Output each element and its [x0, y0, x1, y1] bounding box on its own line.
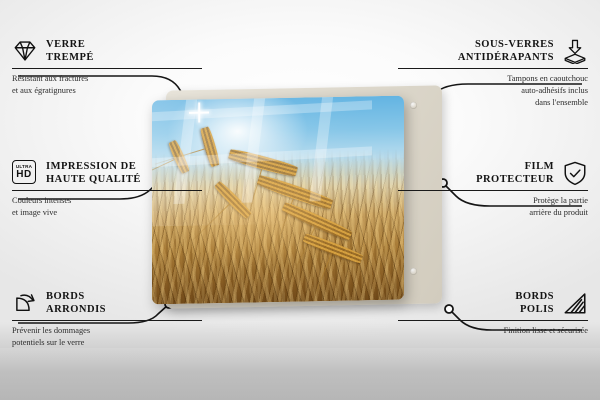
ultra-hd-icon: ultra HD [12, 160, 38, 186]
feature-description: Tampons en caoutchouc auto-adhésifs incl… [398, 73, 588, 110]
feature-heading: VERRE TREMPÉ [12, 38, 202, 65]
feature-bords-polis: BORDS POLIS Finition lisse et sécurisée [398, 290, 588, 337]
divider [12, 320, 202, 321]
feature-description: Couleurs intenses et image vive [12, 195, 202, 219]
feature-impression-haute-qualite: ultra HD IMPRESSION DE HAUTE QUALITÉ Cou… [12, 160, 202, 219]
feature-description: Protège la partie arrière du produit [398, 195, 588, 219]
rounded-corner-icon [12, 290, 38, 316]
feature-description: Prévenir les dommages potentiels sur le … [12, 325, 202, 349]
feature-title: BORDS ARRONDIS [46, 290, 106, 317]
feature-description: Finition lisse et sécurisée [398, 325, 588, 337]
divider [12, 68, 202, 69]
feature-title: VERRE TREMPÉ [46, 38, 94, 65]
divider [12, 190, 202, 191]
feature-heading: ultra HD IMPRESSION DE HAUTE QUALITÉ [12, 160, 202, 187]
diamond-icon [12, 38, 38, 64]
shield-check-icon [562, 160, 588, 186]
feature-heading: FILM PROTECTEUR [398, 160, 588, 187]
feature-heading: BORDS POLIS [398, 290, 588, 317]
feature-title: FILM PROTECTEUR [476, 160, 554, 187]
feature-heading: SOUS-VERRES ANTIDÉRAPANTS [398, 38, 588, 65]
table-surface [0, 348, 600, 400]
non-slip-pad-icon [562, 38, 588, 64]
feature-title: BORDS POLIS [515, 290, 554, 317]
feature-verre-trempe: VERRE TREMPÉ Résistant aux fractures et … [12, 38, 202, 97]
feature-heading: BORDS ARRONDIS [12, 290, 202, 317]
feature-description: Résistant aux fractures et aux égratignu… [12, 73, 202, 97]
polished-edge-icon [562, 290, 588, 316]
mounting-screw [410, 268, 417, 275]
feature-title: SOUS-VERRES ANTIDÉRAPANTS [458, 38, 554, 65]
feature-film-protecteur: FILM PROTECTEUR Protège la partie arrièr… [398, 160, 588, 219]
feature-sous-verres-antiderapants: SOUS-VERRES ANTIDÉRAPANTS Tampons en cao… [398, 38, 588, 109]
divider [398, 190, 588, 191]
divider [398, 320, 588, 321]
feature-bords-arrondis: BORDS ARRONDIS Prévenir les dommages pot… [12, 290, 202, 349]
feature-title: IMPRESSION DE HAUTE QUALITÉ [46, 160, 141, 187]
divider [398, 68, 588, 69]
